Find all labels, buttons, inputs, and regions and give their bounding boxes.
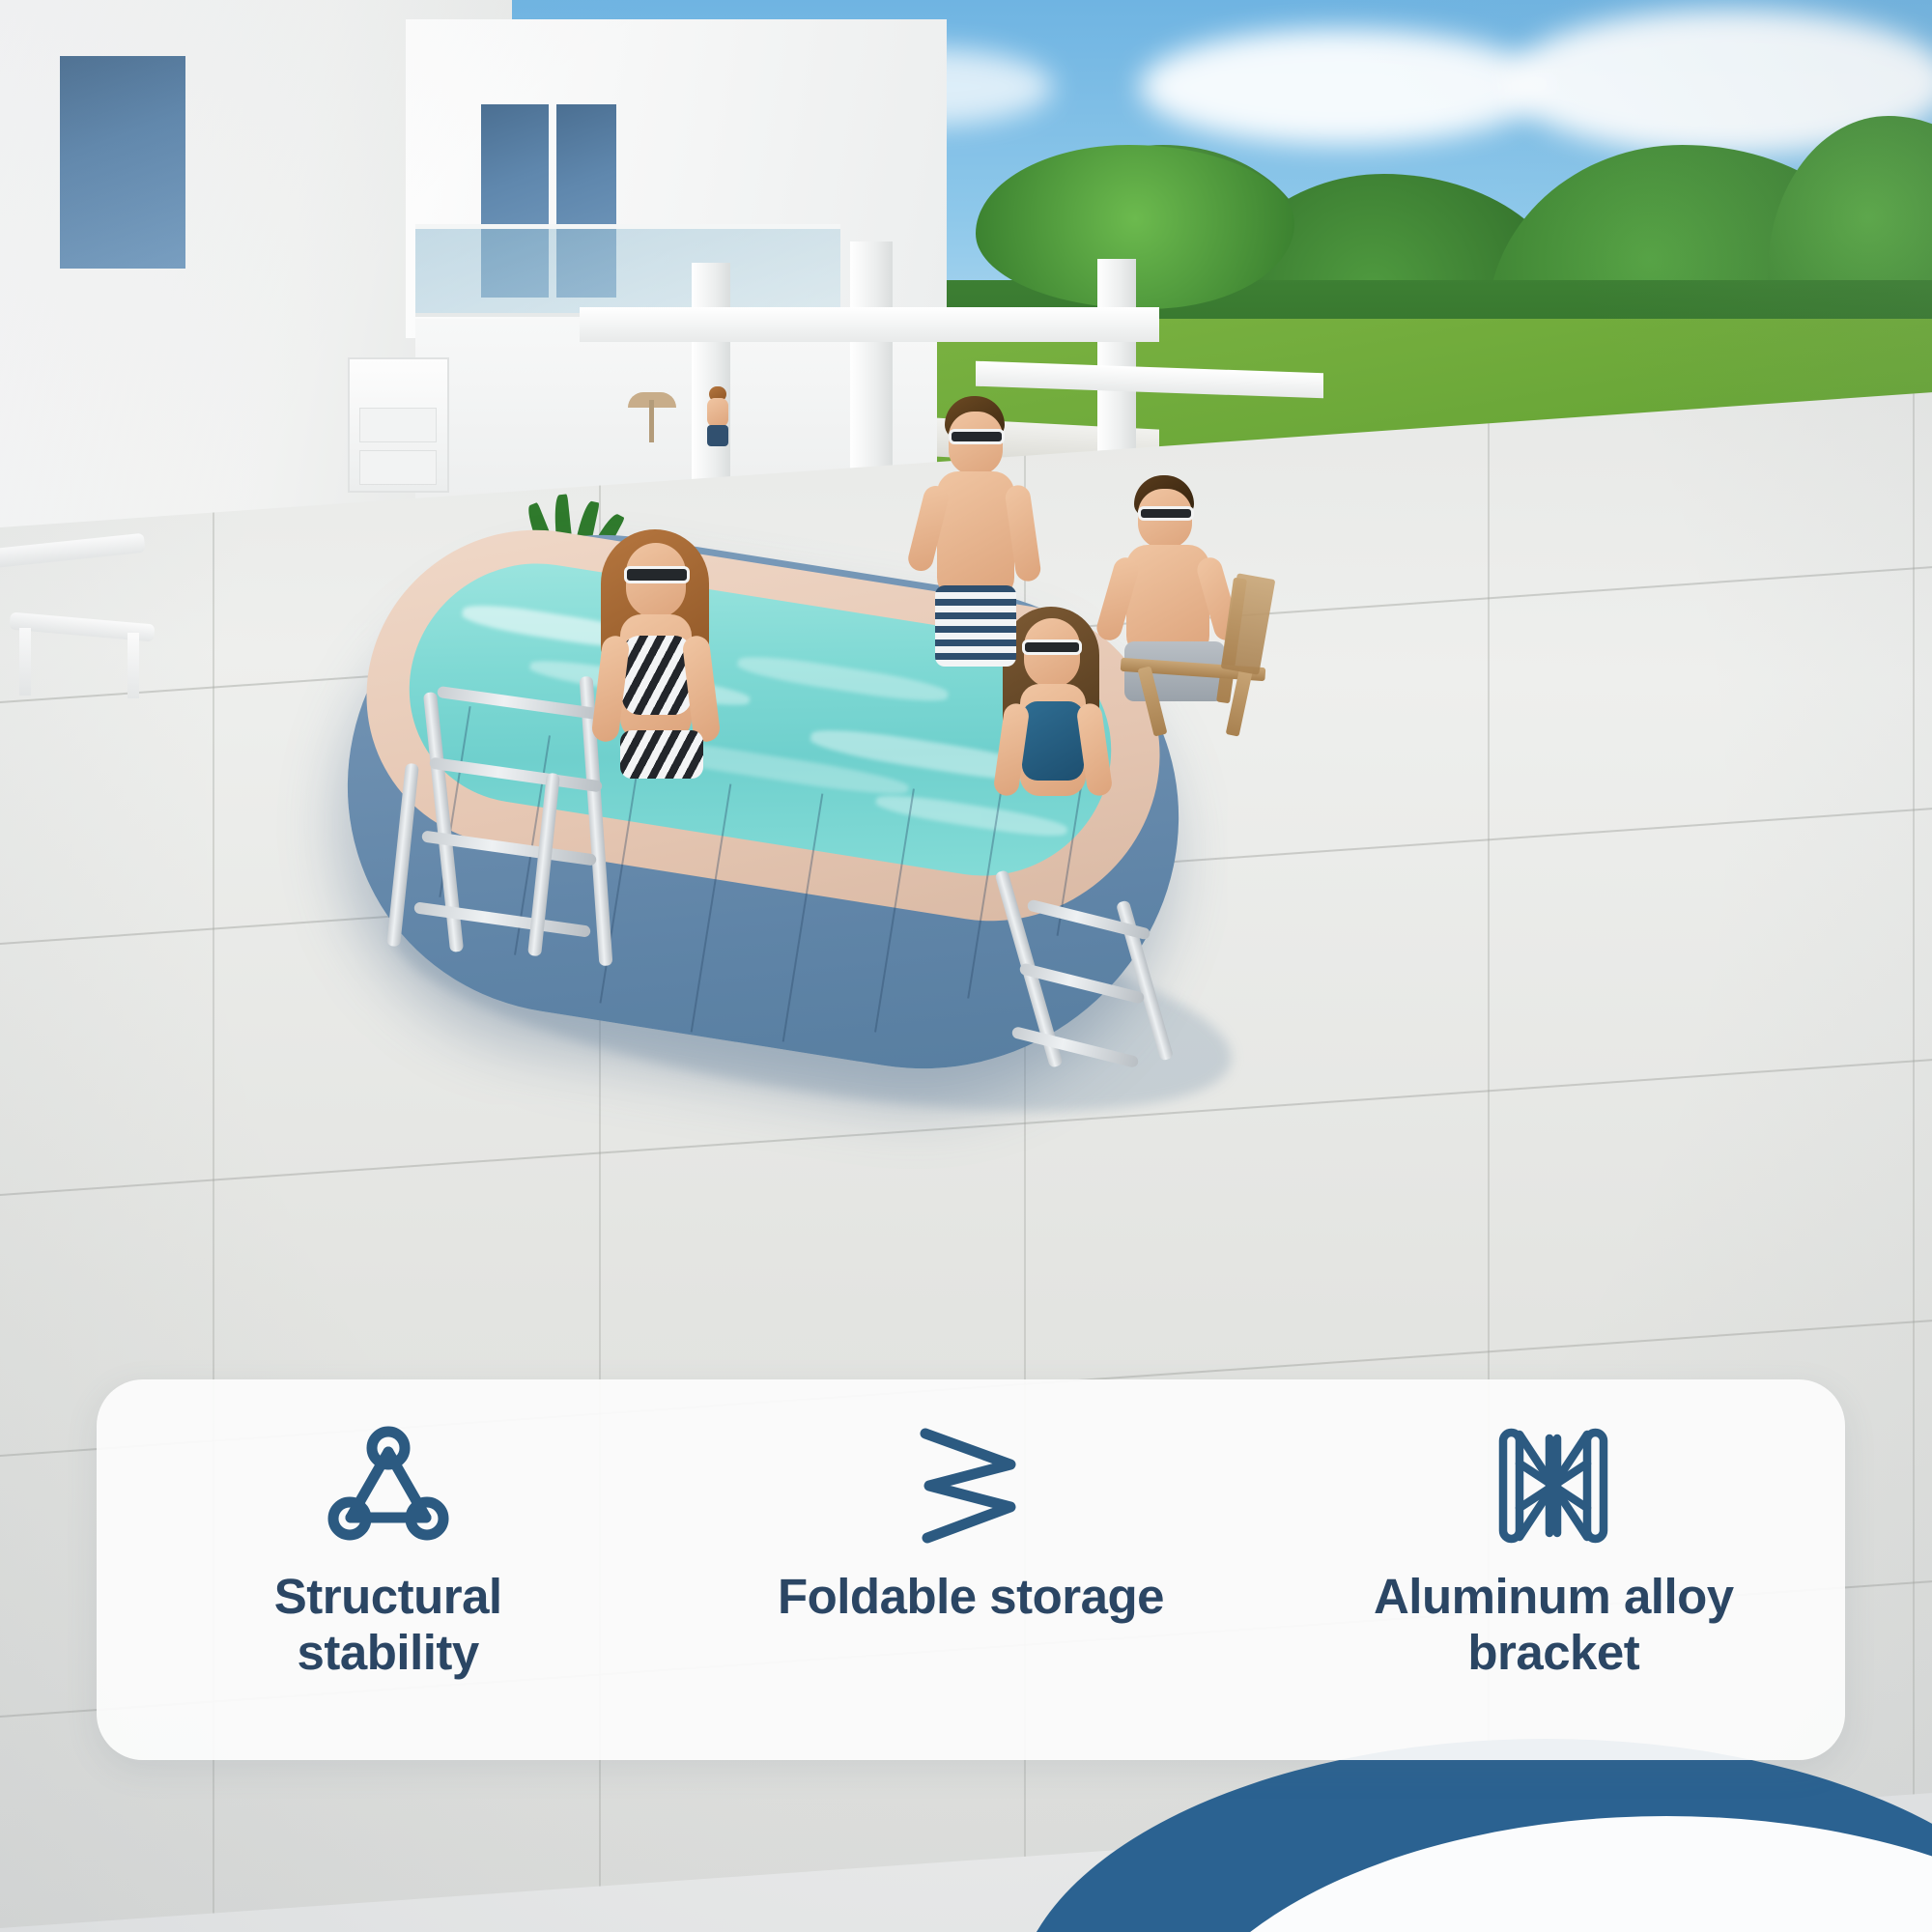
window xyxy=(60,56,185,269)
feature-label-line-2: stability xyxy=(274,1625,502,1681)
door-panel xyxy=(359,408,437,442)
feature-item-aluminum-alloy-bracket[interactable]: Aluminum alloy bracket xyxy=(1263,1379,1845,1681)
feature-label-line-1: Foldable storage xyxy=(778,1569,1164,1625)
balcony-glass-railing xyxy=(415,224,840,317)
umbrella-pole xyxy=(649,400,654,442)
feature-item-foldable-storage[interactable]: Foldable storage xyxy=(679,1379,1262,1625)
feature-label-line-1: Structural xyxy=(274,1569,502,1625)
feature-label-line-1: Aluminum alloy xyxy=(1374,1569,1734,1625)
feature-label: Foldable storage xyxy=(778,1569,1164,1625)
person-man-standing xyxy=(908,396,1043,667)
zigzag-fold-icon xyxy=(898,1418,1043,1553)
feature-label: Aluminum alloy bracket xyxy=(1374,1569,1734,1681)
brand-swoosh-decoration xyxy=(1014,1739,1932,1932)
feature-card: Structural stability Foldable storage xyxy=(97,1379,1845,1760)
alloy-bracket-icon xyxy=(1481,1418,1626,1553)
cloud xyxy=(1140,29,1546,145)
door-panel xyxy=(359,450,437,485)
product-banner: Structural stability Foldable storage xyxy=(0,0,1932,1932)
person-background-distant xyxy=(701,386,734,446)
lounge-chair-leg xyxy=(19,628,31,696)
lounge-chair-leg xyxy=(128,633,139,698)
triangle-node-icon xyxy=(316,1418,461,1553)
person-woman-in-pool xyxy=(580,522,734,773)
roof-beam xyxy=(580,307,1159,342)
feature-item-structural-stability[interactable]: Structural stability xyxy=(97,1379,679,1681)
feature-label-line-2: bracket xyxy=(1374,1625,1734,1681)
feature-label: Structural stability xyxy=(274,1569,502,1681)
